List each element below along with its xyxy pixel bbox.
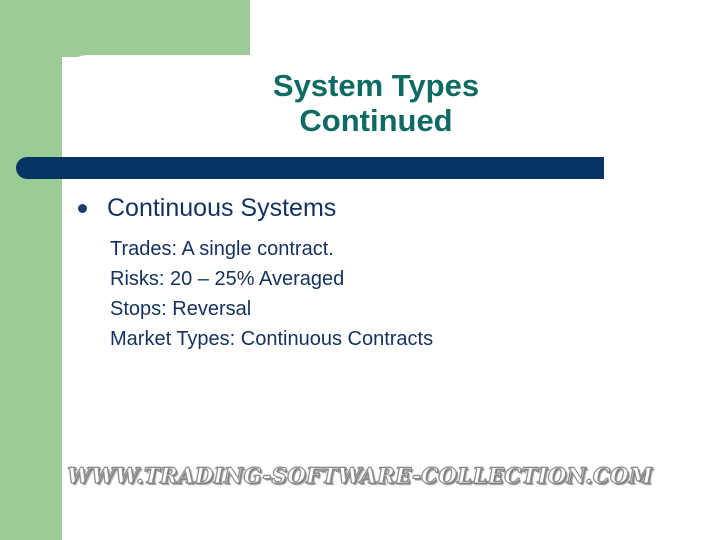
watermark-text: WWW.TRADING-SOFTWARE-COLLECTION.COM [0,463,720,488]
presentation-slide: System Types Continued Continuous System… [0,0,720,540]
bullet-item: Continuous Systems [78,192,678,224]
bullet-dot-icon [78,204,87,213]
sub-list-item: Trades: A single contract. [110,234,678,264]
bullet-item-label: Continuous Systems [107,192,336,224]
bullet-sub-list: Trades: A single contract. Risks: 20 – 2… [110,234,678,354]
sub-list-item: Market Types: Continuous Contracts [110,324,678,354]
slide-body: Continuous Systems Trades: A single cont… [78,192,678,354]
green-topblock-decoration [0,0,250,57]
green-sidebar-decoration [0,0,62,540]
slide-title: System Types Continued [62,68,690,138]
title-divider-bar [16,157,604,179]
slide-title-line-2: Continued [62,103,690,138]
sub-list-item: Stops: Reversal [110,294,678,324]
sub-list-item: Risks: 20 – 25% Averaged [110,264,678,294]
slide-title-line-1: System Types [62,68,690,103]
